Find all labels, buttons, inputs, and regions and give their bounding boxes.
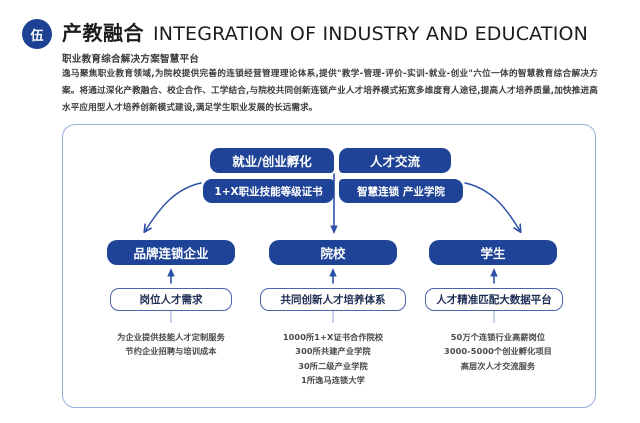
caption-line: 3000-5000个创业孵化项目 (415, 344, 581, 358)
page-subtitle: 职业教育综合解决方案智慧平台 (62, 51, 588, 65)
box-smart-chain-industry-college[interactable]: 智慧连锁 产业学院 (339, 179, 463, 203)
caption-student: 50万个连锁行业高薪岗位 3000-5000个创业孵化项目 高层次人才交流服务 (415, 330, 581, 373)
page-header: 伍 产教融合 INTEGRATION OF INDUSTRY AND EDUCA… (22, 17, 622, 63)
caption-enterprise: 为企业提供技能人才定制服务 节约企业招聘与培训成本 (91, 330, 251, 359)
box-college[interactable]: 院校 (269, 240, 397, 265)
intro-paragraph: 逸马聚焦职业教育领域,为院校提供完善的连锁经营管理理论体系,提供"教学-管理-评… (62, 66, 598, 116)
caption-line: 为企业提供技能人才定制服务 (91, 330, 251, 344)
box-brand-chain-enterprise[interactable]: 品牌连锁企业 (107, 240, 235, 265)
caption-line: 30所二级产业学院 (253, 359, 413, 373)
caption-line: 高层次人才交流服务 (415, 359, 581, 373)
title-group: 产教融合 INTEGRATION OF INDUSTRY AND EDUCATI… (62, 17, 588, 65)
box-talent-matching-bigdata[interactable]: 人才精准匹配大数据平台 (425, 288, 563, 311)
box-employment-incubation[interactable]: 就业/创业孵化 (210, 148, 334, 173)
arrow-right-curve (465, 183, 520, 231)
caption-college: 1000所1+X证书合作院校 300所共建产业学院 30所二级产业学院 1所逸马… (253, 330, 413, 387)
caption-line: 50万个连锁行业高薪岗位 (415, 330, 581, 344)
arrow-left-curve (145, 183, 201, 231)
page-title-cn: 产教融合 (62, 17, 144, 46)
page-title-en: INTEGRATION OF INDUSTRY AND EDUCATION (153, 23, 588, 45)
box-1plusx-certificate[interactable]: 1+X职业技能等级证书 (203, 179, 334, 203)
section-number-badge: 伍 (22, 19, 52, 49)
box-cocreate-talent-system[interactable]: 共同创新人才培养体系 (260, 288, 406, 311)
caption-line: 1所逸马连锁大学 (253, 373, 413, 387)
box-talent-exchange[interactable]: 人才交流 (339, 148, 451, 173)
caption-line: 节约企业招聘与培训成本 (91, 344, 251, 358)
caption-line: 1000所1+X证书合作院校 (253, 330, 413, 344)
box-student[interactable]: 学生 (429, 240, 557, 265)
box-job-talent-demand[interactable]: 岗位人才需求 (110, 288, 232, 311)
caption-line: 300所共建产业学院 (253, 344, 413, 358)
diagram-container: 就业/创业孵化 人才交流 1+X职业技能等级证书 智慧连锁 产业学院 品牌连锁企… (62, 124, 596, 408)
